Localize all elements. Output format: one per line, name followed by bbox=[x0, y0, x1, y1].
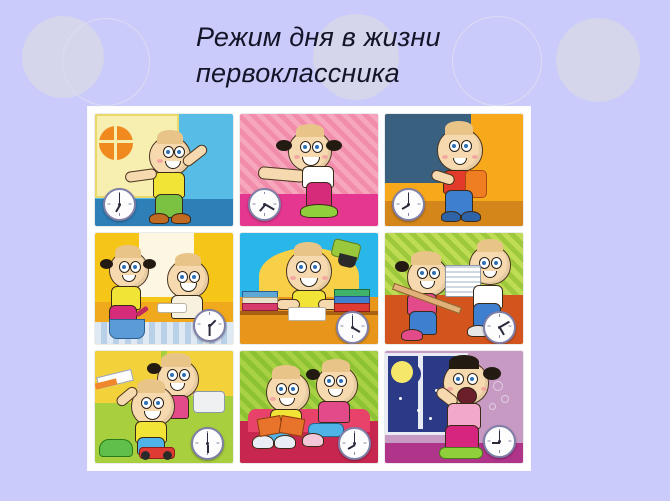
clock-wake-up bbox=[103, 188, 136, 221]
circle-filled-top-left-icon bbox=[22, 16, 104, 98]
panel-lunch[interactable]: Обед — мама наливает суп, мальчик за сто… bbox=[95, 233, 233, 345]
panel-bedtime[interactable]: Сон — девочка зевает перед сном у ночног… bbox=[385, 351, 523, 463]
clock-homework bbox=[336, 311, 369, 344]
circle-outline-top-left-icon bbox=[62, 18, 150, 106]
panel-homework[interactable]: Домашнее задание — мальчик за письменным… bbox=[240, 233, 378, 345]
clock-going-to-school bbox=[392, 188, 425, 221]
panel-play-time[interactable]: Игры и прогулка — дети играют с игрушкам… bbox=[95, 351, 233, 463]
panel-morning-exercise[interactable]: Утренняя зарядка — девочка делает наклон… bbox=[240, 114, 378, 226]
clock-lunch bbox=[193, 309, 226, 342]
panel-house-chores[interactable]: Помощь по дому — дети убирают и несут бе… bbox=[385, 233, 523, 345]
panel-reading[interactable]: Чтение — брат и сестра читают книгу на д… bbox=[240, 351, 378, 463]
presentation-slide: Режим дня в жизни первоклассника bbox=[0, 0, 670, 501]
daily-routine-board: Подъём — мальчик потягивается у окна bbox=[88, 107, 530, 470]
clock-morning-exercise bbox=[248, 188, 281, 221]
panel-going-to-school[interactable]: Дорога в школу — мальчик с ранцем у доск… bbox=[385, 114, 523, 226]
panel-wake-up[interactable]: Подъём — мальчик потягивается у окна bbox=[95, 114, 233, 226]
clock-house-chores bbox=[483, 311, 516, 344]
slide-title: Режим дня в жизни первоклассника bbox=[196, 20, 616, 91]
